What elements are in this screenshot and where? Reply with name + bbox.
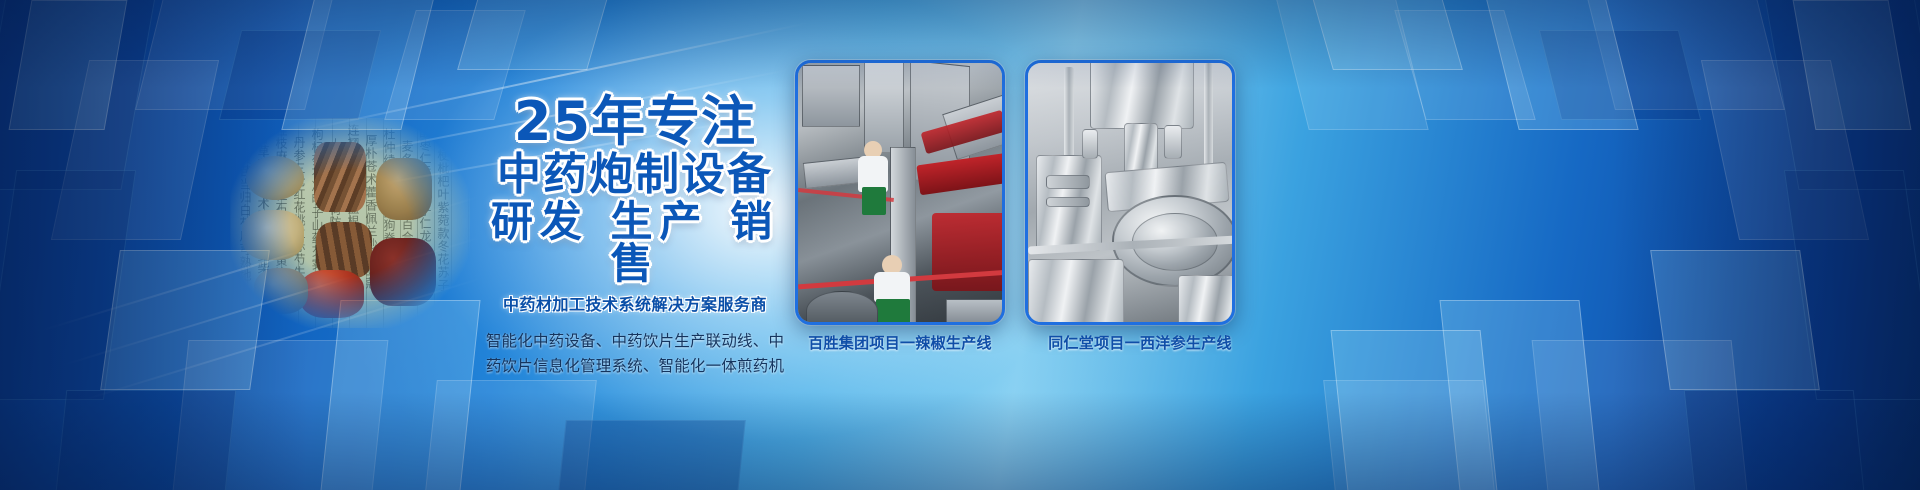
body-line-1: 智能化中药设备、中药饮片生产联动线、中 [470,329,800,354]
herb-dried-root [376,158,432,220]
headline-line-2: 中药炮制设备 [470,153,800,197]
headline-line-1: 25年专注 [470,95,800,149]
photo-card-ginseng-line[interactable] [1025,60,1235,325]
herb-jujube [370,238,436,306]
body-line-2: 药饮片信息化管理系统、智能化一体煎药机 [470,354,800,379]
herb-goji-berries [300,270,364,318]
photo-card-chilli-line[interactable] [795,60,1005,325]
caption-chilli-line: 百胜集团项目一辣椒生产线 [780,332,1020,353]
caption-ginseng-line: 同仁堂项目一西洋参生产线 [1020,332,1260,353]
herb-manuscript-collage: 人参黄芪当归白芍川芎熟地 甘草茯苓白术陈皮半夏柴胡 桂枝麻黄杏仁石膏知母黄连 丹… [230,118,470,328]
herb-root-sticks [314,142,366,212]
herb-mushroom [246,156,304,200]
tagline: 中药材加工技术系统解决方案服务商 [470,291,800,315]
worker-figure-1 [854,141,894,215]
photo-chilli-production-line [798,63,1002,322]
headline-copy-block: 25年专注 中药炮制设备 研发 生产 销售 中药材加工技术系统解决方案服务商 智… [470,95,800,379]
promo-banner: 人参黄芪当归白芍川芎熟地 甘草茯苓白术陈皮半夏柴胡 桂枝麻黄杏仁石膏知母黄连 丹… [0,0,1920,490]
headline-line-3: 研发 生产 销售 [470,201,800,285]
photo-ginseng-production-line [1028,63,1232,322]
herb-seed-mix [254,268,308,314]
herb-licorice-slices [242,210,304,260]
